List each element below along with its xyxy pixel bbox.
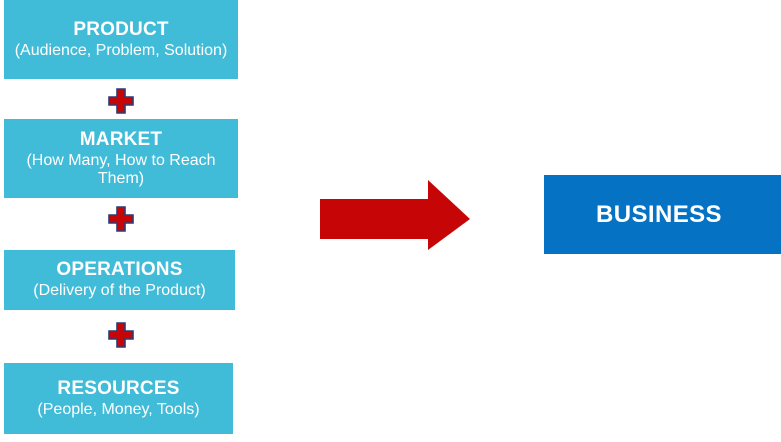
diagram-canvas: PRODUCT (Audience, Problem, Solution) MA… (0, 0, 781, 442)
right-arrow-icon (318, 178, 472, 252)
component-subtitle: (How Many, How to Reach Them) (10, 152, 232, 189)
result-title: BUSINESS (596, 201, 722, 229)
component-subtitle: (People, Money, Tools) (37, 401, 199, 419)
component-box-operations[interactable]: OPERATIONS (Delivery of the Product) (4, 250, 235, 310)
component-box-market[interactable]: MARKET (How Many, How to Reach Them) (4, 119, 238, 198)
component-box-resources[interactable]: RESOURCES (People, Money, Tools) (4, 363, 233, 434)
plus-icon (108, 206, 134, 232)
result-box-business[interactable]: BUSINESS (544, 175, 781, 254)
component-box-product[interactable]: PRODUCT (Audience, Problem, Solution) (4, 0, 238, 79)
component-title: OPERATIONS (56, 259, 182, 281)
plus-icon (108, 322, 134, 348)
component-subtitle: (Audience, Problem, Solution) (15, 42, 228, 60)
component-subtitle: (Delivery of the Product) (33, 282, 206, 300)
component-title: RESOURCES (57, 378, 179, 400)
plus-icon (108, 88, 134, 114)
component-title: PRODUCT (73, 19, 168, 41)
component-title: MARKET (80, 129, 162, 151)
